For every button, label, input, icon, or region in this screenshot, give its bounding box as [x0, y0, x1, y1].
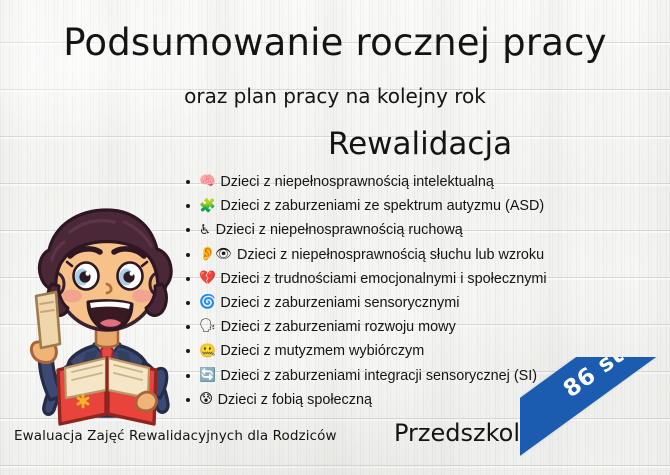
ribbon-label: 86 str: [559, 357, 639, 403]
list-item-label: Dzieci z zaburzeniami ze spektrum autyzm…: [220, 198, 544, 214]
list-item: 💔Dzieci z trudnościami emocjonalnymi i s…: [186, 267, 664, 291]
bullet-dot-icon: [186, 228, 190, 232]
ear-and-eye-icon: 👂👁: [199, 248, 232, 262]
footer-label-przedszkole: Przedszkole: [394, 419, 535, 447]
section-heading-rewalidacja: Rewalidacja: [185, 128, 655, 161]
page-subtitle: oraz plan pracy na kolejny rok: [0, 85, 670, 107]
cheek-left: [62, 290, 82, 303]
list-item-label: Dzieci z zaburzeniami rozwoju mowy: [221, 319, 456, 335]
bullet-dot-icon: [186, 374, 190, 378]
puzzle-piece-icon: 🧩: [199, 200, 215, 214]
list-item-label: Dzieci z mutyzmem wybiórczym: [220, 343, 424, 359]
bullet-dot-icon: [186, 325, 190, 329]
bullet-dot-icon: [186, 204, 190, 208]
list-item-label: Dzieci z zaburzeniami sensorycznymi: [220, 295, 459, 311]
list-item: 🧩Dzieci z zaburzeniami ze spektrum autyz…: [186, 194, 664, 218]
cheek-right: [132, 290, 152, 303]
held-card: [36, 292, 60, 348]
bullet-dot-icon: [186, 398, 190, 402]
bullet-dot-icon: [186, 301, 190, 305]
list-item-label: Dzieci z trudnościami emocjonalnymi i sp…: [220, 271, 546, 287]
bullet-dot-icon: [186, 253, 190, 257]
brain-icon: 🧠: [199, 175, 215, 189]
eye-left: [74, 263, 99, 290]
bullet-dot-icon: [186, 277, 190, 281]
list-item-label: Dzieci z niepełnosprawnością słuchu lub …: [237, 247, 544, 263]
cyclone-icon: 🌀: [199, 296, 215, 310]
page-title: Podsumowanie rocznej pracy: [0, 24, 670, 63]
bullet-dot-icon: [186, 180, 190, 184]
poster-canvas: Podsumowanie rocznej pracy oraz plan pra…: [0, 0, 670, 475]
list-item-label: Dzieci z niepełnosprawnością ruchową: [216, 222, 463, 238]
list-item: 🌀Dzieci z zaburzeniami sensorycznymi: [186, 291, 664, 315]
eye-right: [118, 263, 143, 290]
bullet-dot-icon: [186, 349, 190, 353]
list-item-label: Dzieci z zaburzeniami integracji sensory…: [220, 368, 537, 384]
page-count-ribbon: 86 str: [520, 357, 670, 475]
speaking-head-icon: 🗣: [199, 320, 216, 334]
list-item-label: Dzieci z fobią społeczną: [218, 392, 372, 408]
list-item: 👂👁Dzieci z niepełnosprawnością słuchu lu…: [186, 243, 664, 267]
arrows-counterclockwise-icon: 🔄: [199, 369, 215, 383]
footer-tagline: Ewaluacja Zajęć Rewalidacyjnych dla Rodz…: [14, 428, 337, 444]
ribbon-band: 86 str: [520, 357, 670, 458]
list-item-label: Dzieci z niepełnosprawnością intelektual…: [220, 174, 494, 190]
list-item: ♿Dzieci z niepełnosprawnością ruchową: [186, 218, 664, 242]
broken-heart-icon: 💔: [199, 272, 215, 286]
list-item: 🧠Dzieci z niepełnosprawnością intelektua…: [186, 170, 664, 194]
anxious-face-icon: 😰: [199, 393, 213, 407]
list-item: 🗣Dzieci z zaburzeniami rozwoju mowy: [186, 315, 664, 339]
teacher-illustration: [8, 192, 204, 432]
zipper-mouth-face-icon: 🤐: [199, 345, 215, 359]
hand-right: [136, 392, 156, 411]
wheelchair-icon: ♿: [199, 224, 211, 238]
